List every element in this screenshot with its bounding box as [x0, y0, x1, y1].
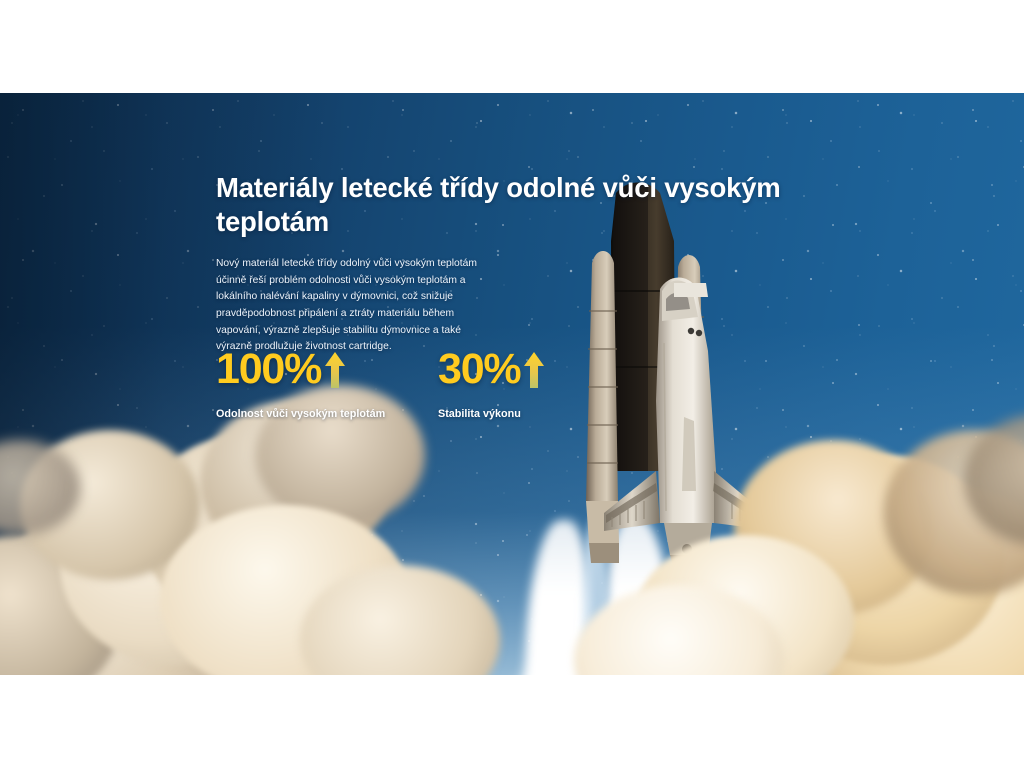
arrow-up-icon [324, 350, 346, 390]
page-title: Materiály letecké třídy odolné vůči vyso… [216, 171, 816, 238]
hero-banner: Materiály letecké třídy odolné vůči vyso… [0, 93, 1024, 675]
stat-value: 100% [216, 348, 321, 391]
stat-value-row: 100% [216, 348, 438, 391]
stat-value: 30% [438, 348, 520, 391]
hero-copy: Materiály letecké třídy odolné vůči vyso… [216, 171, 836, 356]
stat-item: 30% Stabilita výkonu [438, 348, 545, 420]
page-root: Materiály letecké třídy odolné vůči vyso… [0, 0, 1024, 768]
stat-label: Odolnost vůči vysokým teplotám [216, 408, 438, 420]
stat-item: 100% Odolnost vůči vysokým teplotám [216, 348, 438, 420]
stats-group: 100% Odolnost vůči vysokým teplotám [216, 348, 545, 420]
stat-value-row: 30% [438, 348, 545, 391]
hero-description: Nový materiál letecké třídy odolný vůči … [216, 256, 496, 356]
arrow-up-icon [523, 350, 545, 390]
stat-label: Stabilita výkonu [438, 408, 545, 420]
